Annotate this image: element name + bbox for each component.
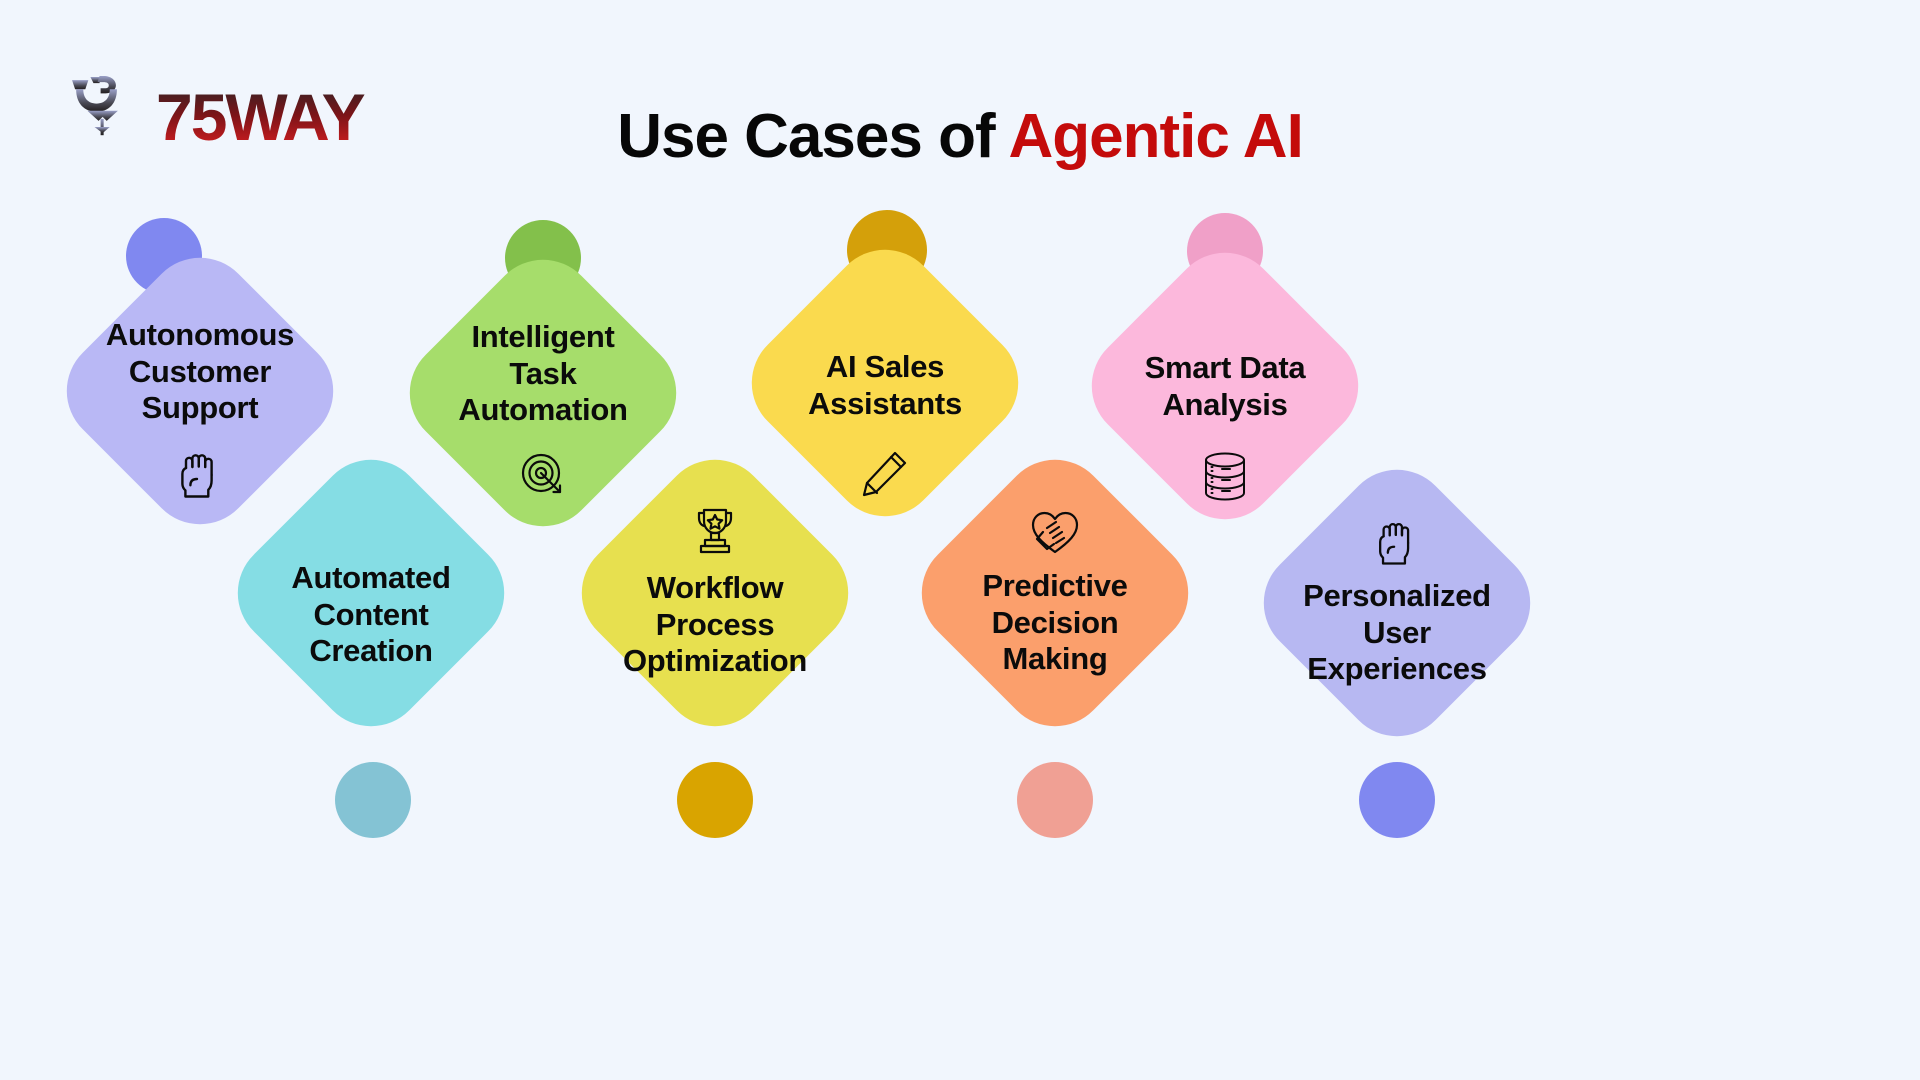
infographic-canvas: 75WAY Use Cases of Agentic AI Autonomous…: [0, 0, 1920, 1080]
page-title: Use Cases of Agentic AI: [0, 104, 1920, 169]
card-accent-circle: [1017, 762, 1093, 838]
page-title-accent: Agentic AI: [1009, 102, 1303, 171]
card-title: Personalized User Experiences: [1303, 578, 1491, 688]
card-title: Autonomous Customer Support: [106, 317, 294, 427]
card-accent-circle: [335, 762, 411, 838]
card-accent-circle: [1359, 762, 1435, 838]
card-personalized-user-experiences[interactable]: Personalized User Experiences: [1242, 440, 1552, 840]
page-title-main: Use Cases of: [617, 102, 1008, 171]
card-title: Smart Data Analysis: [1145, 350, 1306, 423]
card-title: AI Sales Assistants: [808, 349, 962, 422]
card-accent-circle: [677, 762, 753, 838]
card-title: Intelligent Task Automation: [458, 319, 627, 429]
raised-fist-icon: [1375, 518, 1419, 566]
